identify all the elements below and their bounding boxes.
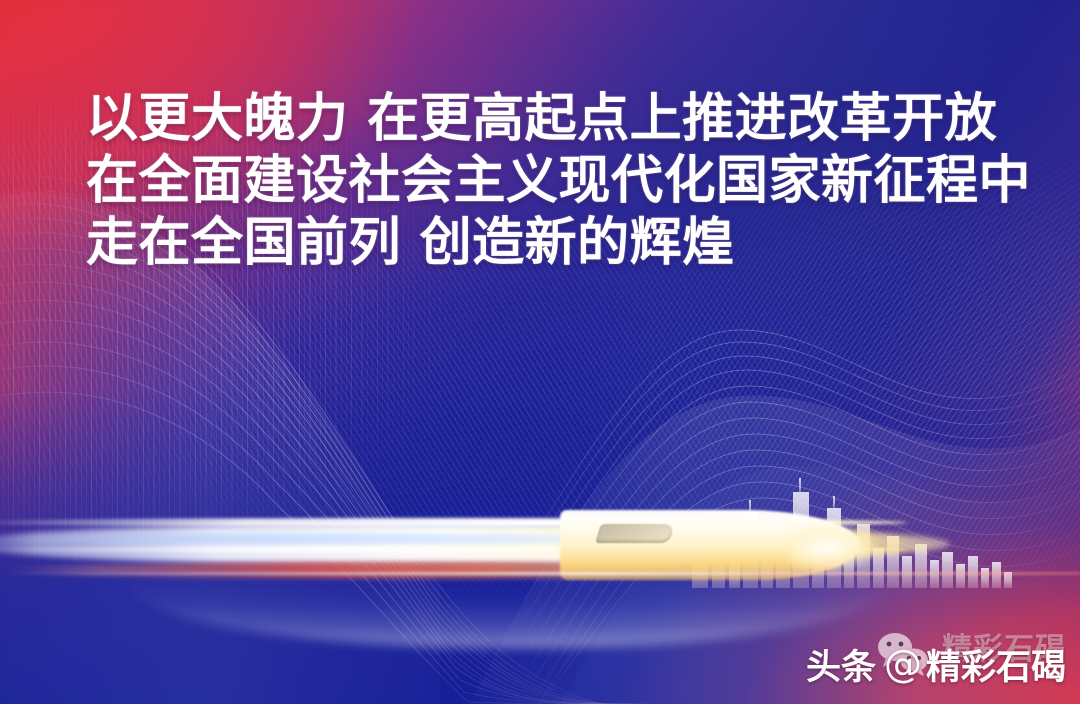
watermark-platform: 头条 xyxy=(806,639,876,690)
title-line-3: 走在全国前列 创造新的辉煌 xyxy=(86,212,1026,274)
watermark: 头条 @ 精彩石碣 xyxy=(806,636,1066,692)
poster-title: 以更大魄力 在更高起点上推进改革开放 在全面建设社会主义现代化国家新征程中 走在… xyxy=(86,88,1026,274)
poster-canvas: 以更大魄力 在更高起点上推进改革开放 在全面建设社会主义现代化国家新征程中 走在… xyxy=(0,0,1080,704)
watermark-account-name: 精彩石碣 xyxy=(926,639,1066,690)
watermark-at-symbol: @ xyxy=(884,645,922,683)
title-line-1: 以更大魄力 在更高起点上推进改革开放 xyxy=(86,88,1026,150)
title-line-2: 在全面建设社会主义现代化国家新征程中 xyxy=(86,150,1026,212)
